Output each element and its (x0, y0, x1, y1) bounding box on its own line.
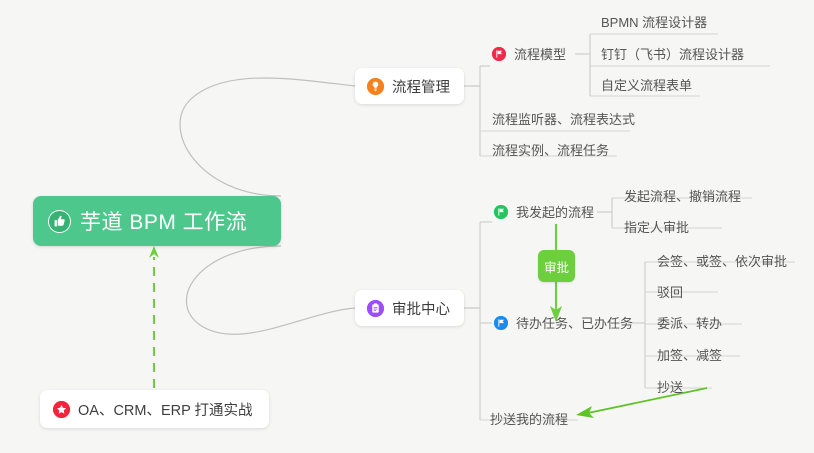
callout-node-integration[interactable]: OA、CRM、ERP 打通实战 (40, 390, 269, 428)
callout-label-integration: OA、CRM、ERP 打通实战 (78, 399, 253, 420)
branch-node-process-management[interactable]: 流程管理 (355, 68, 464, 104)
approval-tag-label: 审批 (544, 257, 569, 276)
node-reject[interactable]: 驳回 (657, 286, 683, 299)
arrow-cc-to-cc-my-process (576, 388, 707, 418)
node-label-add-remove-sign: 加签、减签 (657, 349, 722, 362)
node-label-todo-done-task: 待办任务、已办任务 (516, 317, 633, 330)
node-label-reject: 驳回 (657, 286, 683, 299)
node-process-model[interactable]: 流程模型 (492, 47, 566, 61)
star-icon (53, 401, 70, 418)
node-add-remove-sign[interactable]: 加签、减签 (657, 349, 722, 362)
flag-icon (492, 47, 506, 61)
node-label-instance-task: 流程实例、流程任务 (492, 144, 609, 157)
node-label-listener-expression: 流程监听器、流程表达式 (492, 113, 635, 126)
node-my-started-process[interactable]: 我发起的流程 (494, 205, 594, 219)
branch-label-approval-center: 审批中心 (392, 298, 450, 319)
node-instance-task[interactable]: 流程实例、流程任务 (492, 144, 609, 157)
node-carbon-copy[interactable]: 抄送 (657, 381, 683, 394)
node-todo-done-task[interactable]: 待办任务、已办任务 (494, 316, 633, 330)
mindmap-canvas: 芋道 BPM 工作流 流程管理 流程模型 BPMN 流程设计器 钉钉（飞书 (0, 0, 814, 453)
approval-tag[interactable]: 审批 (538, 250, 575, 282)
flag-icon (494, 205, 508, 219)
node-label-process-model: 流程模型 (514, 48, 566, 61)
flag-icon (494, 316, 508, 330)
link-root-to-process-management (180, 78, 355, 196)
node-label-custom-process-form: 自定义流程表单 (601, 79, 692, 92)
node-countersign[interactable]: 会签、或签、依次审批 (657, 255, 787, 268)
lightbulb-icon (367, 78, 384, 95)
node-label-my-started-process: 我发起的流程 (516, 206, 594, 219)
node-label-assignee-approval: 指定人审批 (624, 221, 689, 234)
root-node[interactable]: 芋道 BPM 工作流 (33, 196, 281, 246)
node-dingtalk-feishu-designer[interactable]: 钉钉（飞书）流程设计器 (601, 48, 744, 61)
node-delegate-transfer[interactable]: 委派、转办 (657, 317, 722, 330)
root-label: 芋道 BPM 工作流 (80, 206, 247, 236)
link-root-to-approval-center (186, 246, 355, 334)
node-label-bpmn-designer: BPMN 流程设计器 (601, 16, 707, 29)
node-label-cc-to-me-process: 抄送我的流程 (490, 413, 568, 426)
node-custom-process-form[interactable]: 自定义流程表单 (601, 79, 692, 92)
node-listener-expression[interactable]: 流程监听器、流程表达式 (492, 113, 635, 126)
node-cc-to-me-process[interactable]: 抄送我的流程 (490, 413, 568, 426)
thumbs-up-icon (48, 210, 71, 233)
node-bpmn-designer[interactable]: BPMN 流程设计器 (601, 16, 707, 29)
branch-label-process-management: 流程管理 (392, 76, 450, 97)
dashed-arrow-callout-to-root (149, 246, 159, 388)
node-label-countersign: 会签、或签、依次审批 (657, 255, 787, 268)
node-start-cancel-process[interactable]: 发起流程、撤销流程 (624, 190, 741, 203)
node-label-start-cancel-process: 发起流程、撤销流程 (624, 190, 741, 203)
node-label-carbon-copy: 抄送 (657, 381, 683, 394)
node-label-delegate-transfer: 委派、转办 (657, 317, 722, 330)
node-assignee-approval[interactable]: 指定人审批 (624, 221, 689, 234)
clipboard-icon (367, 300, 384, 317)
node-label-dingtalk-feishu-designer: 钉钉（飞书）流程设计器 (601, 48, 744, 61)
branch-node-approval-center[interactable]: 审批中心 (355, 290, 464, 326)
